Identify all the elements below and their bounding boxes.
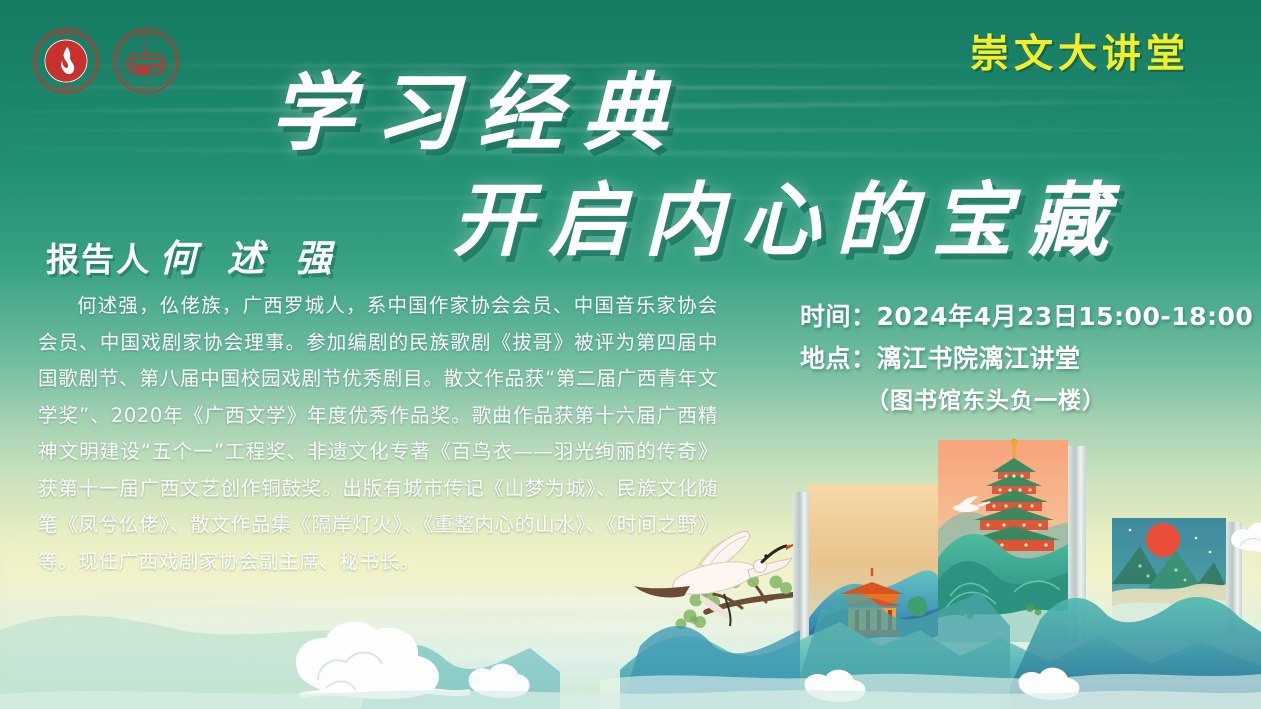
headline-line-2: 开启内心的宝藏 (452, 156, 1124, 272)
mist-streak (0, 86, 1261, 89)
svg-text:广西师范大学: 广西师范大学 (134, 32, 158, 38)
speaker-heading: 报告人 何 述 强 (46, 228, 341, 282)
svg-text:·1932·: ·1932· (141, 42, 151, 46)
landscape-illustration (0, 380, 1261, 709)
speaker-label: 报告人 (46, 233, 151, 281)
mist-streak (0, 145, 1261, 161)
university-emblem-flame-icon: 广西师范大学 GUANGXI 1932 (32, 27, 100, 95)
event-place: 地点：漓江书院漓江讲堂 (800, 338, 1253, 380)
series-banner-title: 崇文大讲堂 (970, 23, 1190, 79)
svg-text:LIBRARY: LIBRARY (140, 84, 153, 88)
headline-line-1: 学习经典 (270, 46, 686, 167)
mist-streak (0, 128, 1261, 132)
speaker-name: 何 述 强 (159, 228, 341, 282)
event-time: 时间：2024年4月23日15:00-18:00 (800, 296, 1253, 338)
svg-text:1932: 1932 (62, 82, 71, 86)
institution-logos: 广西师范大学 GUANGXI 1932 广西师范大学 ·1932· LIBRAR… (32, 27, 180, 95)
event-poster: 广西师范大学 GUANGXI 1932 广西师范大学 ·1932· LIBRAR… (0, 0, 1261, 709)
mist-streak (0, 196, 1261, 200)
mist-streak (0, 98, 1261, 115)
university-library-emblem-icon: 广西师范大学 ·1932· LIBRARY (112, 27, 180, 95)
